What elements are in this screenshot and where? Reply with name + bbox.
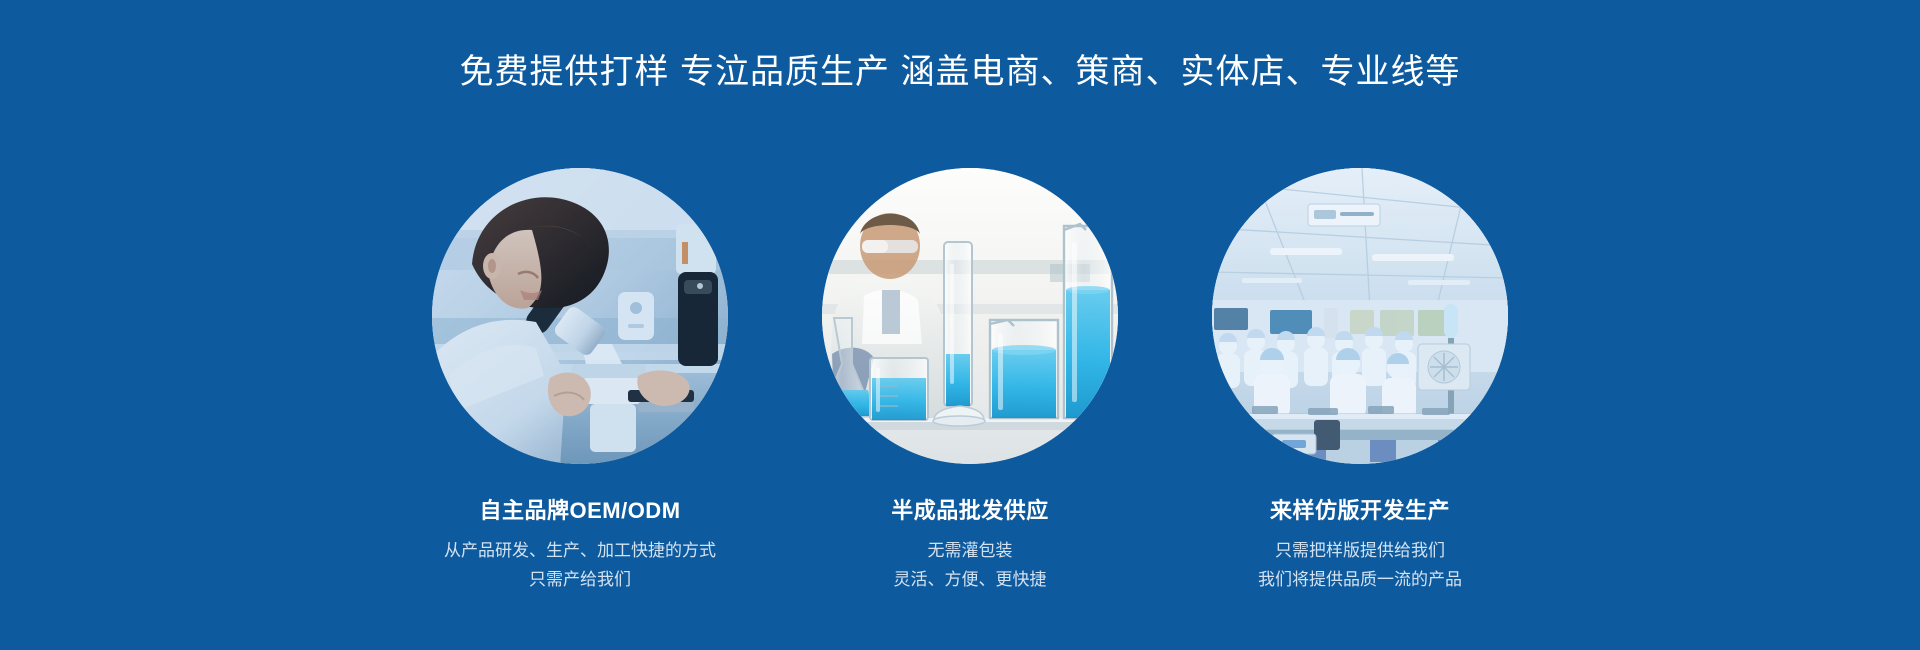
card-description: 无需灌包装 灵活、方便、更快捷 [894,536,1047,594]
card-description-line: 我们将提供品质一流的产品 [1258,565,1462,594]
card-description-line: 只需把样版提供给我们 [1258,536,1462,565]
card-description-line: 灵活、方便、更快捷 [894,565,1047,594]
cleanroom-production-photo [1212,168,1508,464]
card-title: 自主品牌OEM/ODM [479,496,680,526]
feature-card[interactable]: 半成品批发供应 无需灌包装 灵活、方便、更快捷 [820,168,1120,594]
promo-banner: 免费提供打样 专泣品质生产 涵盖电商、策商、实体店、专业线等 [0,0,1920,650]
lab-glassware-photo [822,168,1118,464]
feature-card[interactable]: 自主品牌OEM/ODM 从产品研发、生产、加工快捷的方式 只需产给我们 [430,168,730,594]
card-description-line: 从产品研发、生产、加工快捷的方式 [444,536,716,565]
card-description-line: 无需灌包装 [894,536,1047,565]
banner-headline: 免费提供打样 专泣品质生产 涵盖电商、策商、实体店、专业线等 [0,50,1920,94]
card-title: 半成品批发供应 [891,496,1049,526]
card-description-line: 只需产给我们 [444,565,716,594]
feature-card[interactable]: 来样仿版开发生产 只需把样版提供给我们 我们将提供品质一流的产品 [1210,168,1510,594]
lab-microscope-photo [432,168,728,464]
card-title: 来样仿版开发生产 [1270,496,1450,526]
feature-card-list: 自主品牌OEM/ODM 从产品研发、生产、加工快捷的方式 只需产给我们 [430,168,1510,594]
card-description: 只需把样版提供给我们 我们将提供品质一流的产品 [1258,536,1462,594]
card-description: 从产品研发、生产、加工快捷的方式 只需产给我们 [444,536,716,594]
